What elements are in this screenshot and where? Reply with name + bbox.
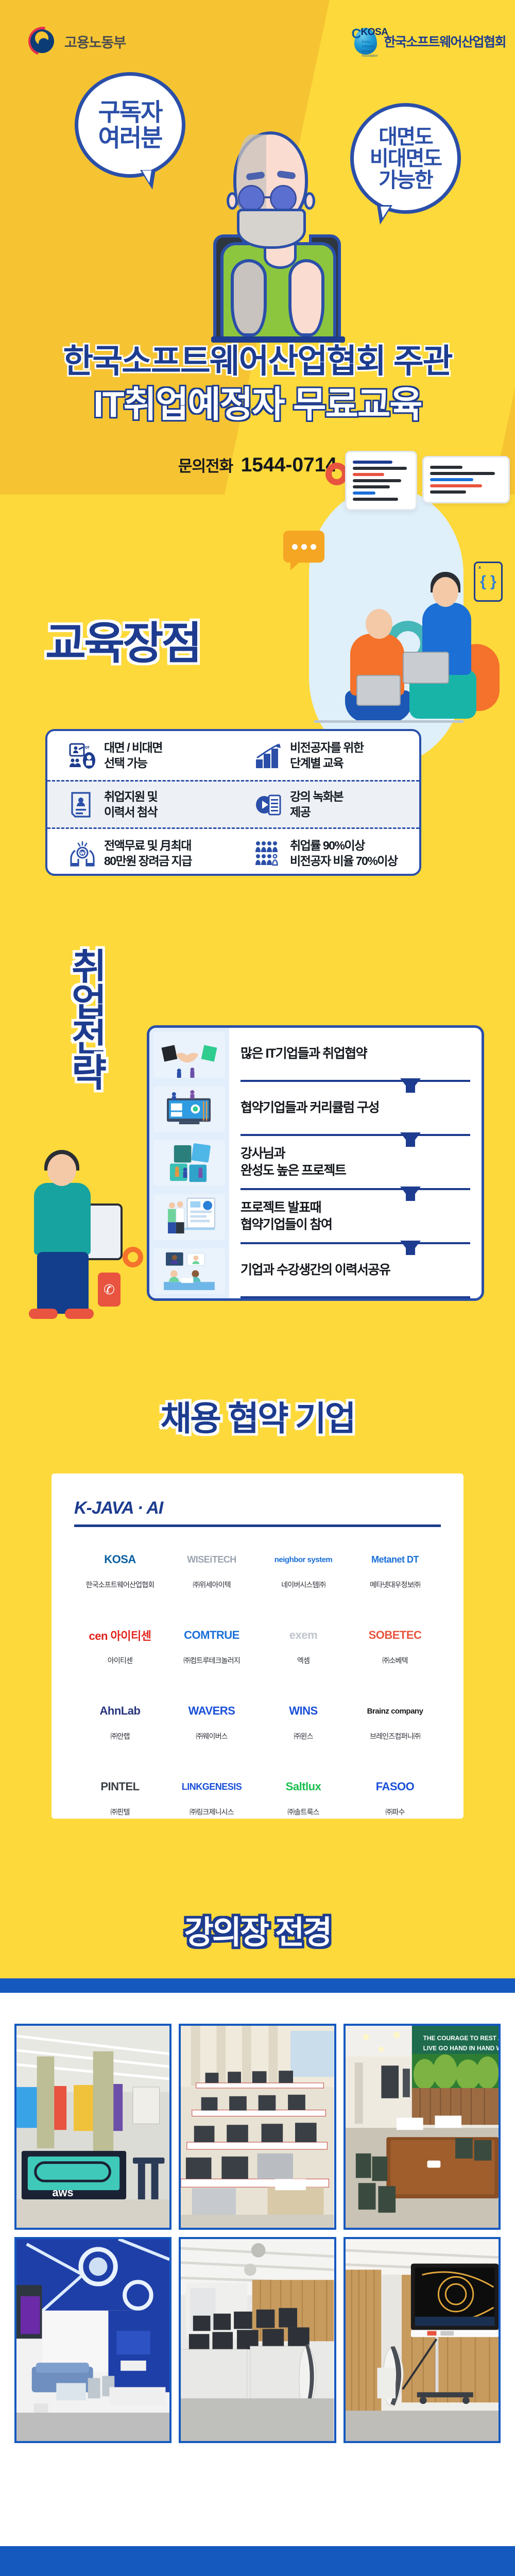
partner-logo-cell: COMTRUE㈜컴트루테크놀러지 [166,1614,257,1685]
partner-logo-cell: WAVERS㈜웨이버스 [166,1690,257,1760]
classroom-photo-grid: aws [0,1993,515,2474]
benefit-line1: 전액무료 및 月최대 [104,838,192,853]
benefit-line1: 취업률 90%이상 [290,838,398,853]
partner-logo-mark: AhnLab [100,1696,141,1726]
hero-title: 한국소프트웨어산업협회 주관 IT취업예정자 무료교육 [0,343,515,426]
partner-logo-caption: 아이티센 [108,1655,132,1666]
footer-blue-band [0,2546,515,2576]
phone-icon: ✆ [98,1273,121,1307]
partner-logo-caption: ㈜웨이버스 [196,1731,228,1741]
partner-logo-mark: neighbor system [274,1545,333,1574]
hands-money-icon: ₩ [69,840,96,867]
face-mask-icon [237,209,306,249]
partner-logo-mark: exem [289,1620,317,1650]
partner-logo-caption: ㈜윈스 [294,1731,313,1741]
classroom-section-title: 강의장 전경 [184,1915,331,1951]
strategy-step-text: 기업과 수강생간의 이력서공유 [241,1262,470,1279]
strategy-section: 취업전략 ✆ [0,886,515,1355]
hero-section: 고용노동부 C KOSA Korea Software Industry Ass… [0,0,515,495]
partner-logo-caption: ㈜핀텔 [110,1807,129,1817]
strategy-step-1: 협약기업들과 커리큘럼 구성 [241,1082,470,1136]
presentation-person-icon: or [69,742,96,769]
partner-logo-cell: Metanet DT메타넷대우정보㈜ [349,1538,441,1609]
partner-logo-caption: ㈜링크제니시스 [190,1807,234,1817]
sunglasses-icon [238,185,305,212]
benefits-row-2: 취업지원 및 이력서 첨삭 [47,780,419,829]
partner-logo-cell: exem엑셈 [257,1614,349,1685]
bar-chart-growth-icon [255,742,282,769]
partner-logo-caption: ㈜위세아이텍 [193,1580,231,1590]
benefit-line2: 제공 [290,805,343,820]
partner-logo-caption: ㈜안랩 [110,1731,129,1741]
benefit-line2: 비전공자 비율 70%이상 [290,854,398,869]
benefit-item-1: 비전공자를 위한 단계별 교육 [233,740,419,771]
partner-logo-caption: ㈜컴트루테크놀러지 [183,1655,240,1666]
svg-text:aws: aws [52,2186,73,2199]
partner-logo-cell: Brainz company브레인즈컴퍼니㈜ [349,1690,441,1760]
partner-logo-mark: COMTRUE [184,1620,239,1650]
benefit-line2: 선택 가능 [104,756,162,771]
partner-logo-caption: 브레인즈컴퍼니㈜ [370,1731,420,1741]
benefit-item-5: 취업률 90%이상 비전공자 비율 70%이상 [233,838,419,869]
code-braces-icon: x{ } [474,562,503,602]
gov-logo-label: 고용노동부 [64,31,126,52]
classroom-band-top [0,1865,515,1901]
benefit-line1: 비전공자를 위한 [290,740,364,755]
benefits-section-title: 교육장점 [45,607,200,671]
puzzle-team-photo [153,1140,225,1186]
bubble-left-line2: 여러분 [98,125,162,150]
benefit-item-0: or 대면 / 비대면 선택 가능 [47,740,233,771]
hero-title-line1: 한국소프트웨어산업협회 주관 [0,343,515,381]
partner-logo-cell: KOSA한국소프트웨어산업협회 [74,1538,166,1609]
partner-logo-caption: 한국소프트웨어산업협회 [86,1580,154,1590]
partners-card-heading: K-JAVA · AI [74,1498,441,1524]
down-arrow-icon [400,1078,421,1092]
blue-ceiling-room-photo [14,2237,171,2443]
aws-lounge-photo: aws [14,2024,171,2230]
classroom-section: 강의장 전경 [0,1865,515,2576]
gov-logo: 고용노동부 [28,27,126,56]
hero-character-illustration [216,131,340,337]
benefit-line1: 대면 / 비대면 [104,740,162,755]
partner-logo-cell: AhnLab㈜안랩 [74,1690,166,1760]
handshake-photo [153,1032,225,1078]
video-meeting-photo [153,1248,225,1294]
resume-document-icon [69,791,96,818]
partners-rule [74,1524,441,1527]
partner-logo-cell: LINKGENESIS㈜링크제니시스 [166,1766,257,1836]
partners-section-title: 채용 협약 기업 [0,1391,515,1440]
partner-logo-cell: PINTEL㈜핀텔 [74,1766,166,1836]
partner-logo-caption: ㈜소베텍 [382,1655,407,1666]
benefit-text-2: 취업지원 및 이력서 첨삭 [104,789,157,820]
partners-card: K-JAVA · AI KOSA한국소프트웨어산업협회WISEiTECH㈜위세아… [51,1473,463,1819]
kosa-logo-en: KOSA [360,27,388,38]
partners-section: 채용 협약 기업 K-JAVA · AI KOSA한국소프트웨어산업협회WISE… [0,1355,515,1865]
benefits-section: x{ } 교육장점 [0,495,515,886]
kosa-drop-icon: C KOSA Korea Software Industry Associati… [350,25,379,58]
kosa-logo: C KOSA Korea Software Industry Associati… [350,25,506,58]
strategy-step-text: 많은 IT기업들과 취업협약 [241,1045,470,1062]
partner-logo-mark: PINTEL [100,1772,139,1802]
strategy-step-2: 강사님과 완성도 높은 프로젝트 [241,1136,470,1190]
landing-page: 고용노동부 C KOSA Korea Software Industry Ass… [0,0,515,2576]
bubble-subscribers: 구독자 여러분 [75,72,185,178]
partner-logo-cell: SOBETEC㈜소베텍 [349,1614,441,1685]
partner-logo-mark: cen 아이티센 [89,1620,151,1650]
strategy-step-4: 기업과 수강생간의 이력서공유 [241,1244,470,1298]
partner-logo-mark: WINS [289,1696,317,1726]
code-card-1 [345,451,417,511]
partner-logo-caption: 메타넷대우정보㈜ [370,1580,420,1590]
partner-logo-cell: neighbor system네이버시스템㈜ [257,1538,349,1609]
people-group-icon [255,840,282,867]
benefit-text-0: 대면 / 비대면 선택 가능 [104,740,162,771]
bubble-right-line1: 대면도 [379,126,432,148]
svg-text:₩: ₩ [80,851,85,856]
benefit-line2: 80만원 장려금 지급 [104,854,192,869]
logo-row: 고용노동부 C KOSA Korea Software Industry Ass… [0,27,515,68]
partner-logo-grid: KOSA한국소프트웨어산업협회WISEiTECH㈜위세아이텍neighbor s… [74,1538,441,1836]
partner-logo-mark: WAVERS [188,1696,235,1726]
play-video-icon [255,791,282,818]
strategy-step-3: 프로젝트 발표때 협약기업들이 참여 [241,1190,470,1244]
partner-logo-mark: SOBETEC [369,1620,422,1650]
classroom-bottom-gap [0,2474,515,2546]
pc-classroom-photo [179,2237,336,2443]
partner-logo-mark: Metanet DT [371,1545,419,1574]
partner-logo-cell: FASOO㈜파수 [349,1766,441,1836]
hero-title-line2: IT취업예정자 무료교육 [0,383,515,426]
team-dashboard-photo [153,1086,225,1132]
benefit-line1: 강의 녹화본 [290,789,343,804]
strategy-person-illustration: ✆ [10,1154,144,1324]
down-arrow-icon [400,1241,421,1254]
down-arrow-icon [400,1132,421,1146]
partner-logo-mark: FASOO [376,1772,415,1802]
benefit-item-3: 강의 녹화본 제공 [233,789,419,820]
strategy-thumbnail-column [149,1028,229,1298]
presentation-photo [153,1194,225,1240]
svg-text:THE COURAGE TO REST A: THE COURAGE TO REST A [423,2035,499,2042]
down-arrow-icon [400,1187,421,1200]
taegeuk-icon [28,27,57,56]
benefits-card: or 대면 / 비대면 선택 가능 [45,729,421,876]
partner-logo-caption: 엑셈 [297,1655,310,1666]
phone-label: 문의전화 [178,458,233,475]
bubble-left-line1: 구독자 [98,99,162,125]
partner-logo-cell: WINS㈜윈스 [257,1690,349,1760]
benefits-row-3: ₩ 전액무료 및 月최대 80만원 장려금 지급 [47,829,419,876]
studio-display-photo [344,2237,501,2443]
kosa-logo-kr: 한국소프트웨어산업협회 [384,32,506,50]
partner-logo-cell: Saltlux㈜솔트룩스 [257,1766,349,1836]
benefit-line2: 이력서 첨삭 [104,805,157,820]
benefit-text-1: 비전공자를 위한 단계별 교육 [290,740,364,771]
benefit-item-4: ₩ 전액무료 및 月최대 80만원 장려금 지급 [47,838,233,869]
strategy-step-list: 많은 IT기업들과 취업협약 협약기업들과 커리큘럼 구성 강사님과 완성도 높… [229,1028,482,1298]
partner-logo-mark: WISEiTECH [187,1545,236,1574]
bubble-right-line2: 비대면도 [370,148,441,170]
bubble-modes: 대면도 비대면도 가능한 [350,103,461,214]
laptop-classroom-photo [179,2024,336,2230]
strategy-panel: 많은 IT기업들과 취업협약 협약기업들과 커리큘럼 구성 강사님과 완성도 높… [147,1025,484,1301]
code-card-2 [422,456,510,503]
gear-icon [123,1247,143,1267]
benefit-text-5: 취업률 90%이상 비전공자 비율 70%이상 [290,838,398,869]
benefit-text-3: 강의 녹화본 제공 [290,789,343,820]
benefit-line2: 단계별 교육 [290,756,364,771]
partner-logo-cell: cen 아이티센아이티센 [74,1614,166,1685]
partner-logo-caption: ㈜파수 [385,1807,404,1817]
kosa-logo-sub: Korea Software Industry Association [362,40,379,59]
strategy-step-text: 프로젝트 발표때 협약기업들이 참여 [241,1199,470,1233]
benefit-text-4: 전액무료 및 月최대 80만원 장려금 지급 [104,838,192,869]
chat-bubble-icon [283,531,324,563]
strategy-section-title: 취업전략 [57,951,118,1091]
partner-logo-mark: LINKGENESIS [182,1772,242,1802]
partner-logo-mark: Saltlux [286,1772,321,1802]
svg-text:or: or [85,744,90,750]
partner-logo-caption: 네이버시스템㈜ [281,1580,325,1590]
bubble-right-line3: 가능한 [379,170,432,191]
benefit-line1: 취업지원 및 [104,789,157,804]
green-wall-cafe-photo: THE COURAGE TO REST A LIVE GO HAND IN HA… [344,2024,501,2230]
partner-logo-mark: Brainz company [367,1696,423,1726]
strategy-step-text: 강사님과 완성도 높은 프로젝트 [241,1145,470,1179]
classroom-title-band: 강의장 전경 [0,1901,515,1978]
classroom-blue-divider [0,1978,515,1993]
benefits-row-1: or 대면 / 비대면 선택 가능 [47,731,419,780]
benefit-item-2: 취업지원 및 이력서 첨삭 [47,789,233,820]
strategy-step-0: 많은 IT기업들과 취업협약 [241,1028,470,1082]
partner-logo-caption: ㈜솔트룩스 [287,1807,319,1817]
phone-number[interactable]: 1544-0714 [241,454,337,476]
strategy-step-text: 협약기업들과 커리큘럼 구성 [241,1099,470,1116]
partner-logo-cell: WISEiTECH㈜위세아이텍 [166,1538,257,1609]
svg-text:LIVE GO HAND IN HAND W: LIVE GO HAND IN HAND W [423,2045,499,2052]
partner-logo-mark: KOSA [104,1545,136,1574]
